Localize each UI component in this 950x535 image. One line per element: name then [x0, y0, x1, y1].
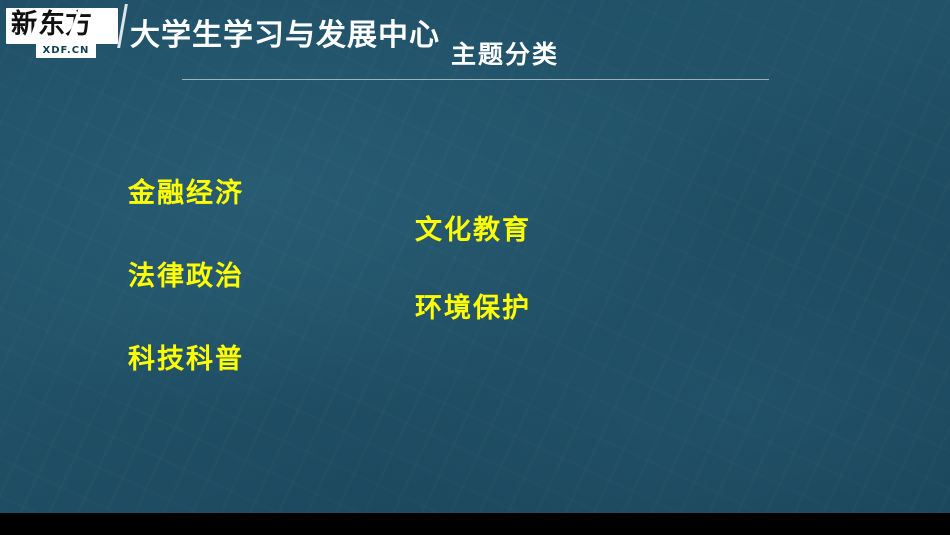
- slide-canvas: 新东方 XDF.CN 大学生学习与发展中心 主题分类 金融经济 文化教育 法律政…: [0, 0, 950, 535]
- topic-item: 文化教育: [415, 208, 531, 247]
- bottom-letterbox-bar: [0, 513, 950, 535]
- topic-list: 金融经济 文化教育 法律政治 环境保护 科技科普: [0, 0, 950, 535]
- topic-item: 法律政治: [128, 254, 244, 293]
- topic-item: 金融经济: [128, 171, 244, 210]
- topic-item: 科技科普: [128, 337, 244, 376]
- topic-item: 环境保护: [415, 286, 531, 325]
